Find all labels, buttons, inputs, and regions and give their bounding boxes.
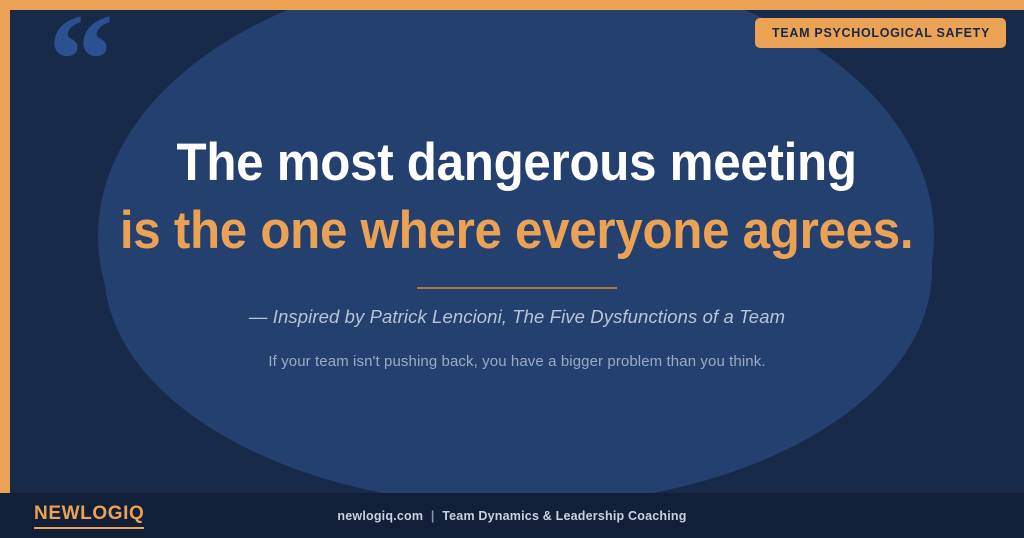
top-accent-border xyxy=(0,0,1024,10)
left-accent-border xyxy=(0,0,10,493)
quote-attribution: — Inspired by Patrick Lencioni, The Five… xyxy=(249,306,785,328)
footer-meta: newlogiq.com | Team Dynamics & Leadershi… xyxy=(0,509,1024,523)
headline-line-2: is the one where everyone agrees. xyxy=(120,201,913,262)
footer-site-url[interactable]: newlogiq.com xyxy=(337,509,423,523)
quote-content: The most dangerous meeting is the one wh… xyxy=(10,10,1024,493)
footer-bar: NEWLOGIQ newlogiq.com | Team Dynamics & … xyxy=(0,493,1024,538)
quote-subcaption: If your team isn't pushing back, you hav… xyxy=(268,353,765,370)
quote-slide: “ TEAM PSYCHOLOGICAL SAFETY The most dan… xyxy=(0,0,1024,538)
headline-line-1: The most dangerous meeting xyxy=(120,133,913,194)
footer-separator: | xyxy=(427,509,439,523)
divider-rule xyxy=(417,287,617,289)
footer-tagline: Team Dynamics & Leadership Coaching xyxy=(442,509,686,523)
headline: The most dangerous meeting is the one wh… xyxy=(120,133,913,262)
